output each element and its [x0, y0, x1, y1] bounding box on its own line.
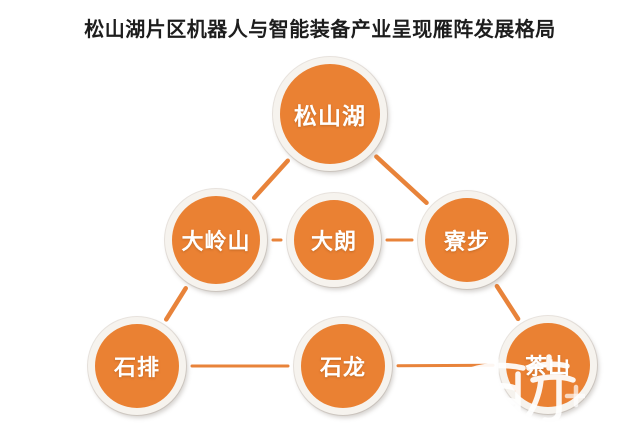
connector-songshanhu-dalingshan: [254, 161, 287, 198]
node-label-shilong: 石龙: [320, 350, 366, 382]
connector-songshanhu-liaobu: [376, 157, 426, 203]
node-dalingshan[interactable]: 大岭山: [165, 189, 267, 291]
node-label-chashan: 茶山: [525, 349, 571, 381]
node-chashan[interactable]: 茶山: [499, 316, 597, 414]
node-dalang[interactable]: 大朗: [287, 193, 381, 287]
node-label-shipai: 石排: [114, 350, 160, 382]
node-label-liaobu: 寮步: [444, 224, 490, 256]
node-shilong[interactable]: 石龙: [294, 317, 392, 415]
node-shipai[interactable]: 石排: [88, 317, 186, 415]
connector-liaobu-chashan: [497, 286, 518, 319]
node-label-songshanhu: 松山湖: [294, 97, 366, 131]
node-label-dalingshan: 大岭山: [181, 224, 250, 256]
diagram-canvas: 松山湖片区机器人与智能装备产业呈现雁阵发展格局 松山湖大岭山大朗寮步石排石龙茶山: [0, 0, 640, 434]
connector-dalingshan-shipai: [166, 288, 186, 319]
node-songshanhu[interactable]: 松山湖: [273, 57, 387, 171]
node-liaobu[interactable]: 寮步: [418, 191, 516, 289]
node-label-dalang: 大朗: [311, 224, 357, 256]
